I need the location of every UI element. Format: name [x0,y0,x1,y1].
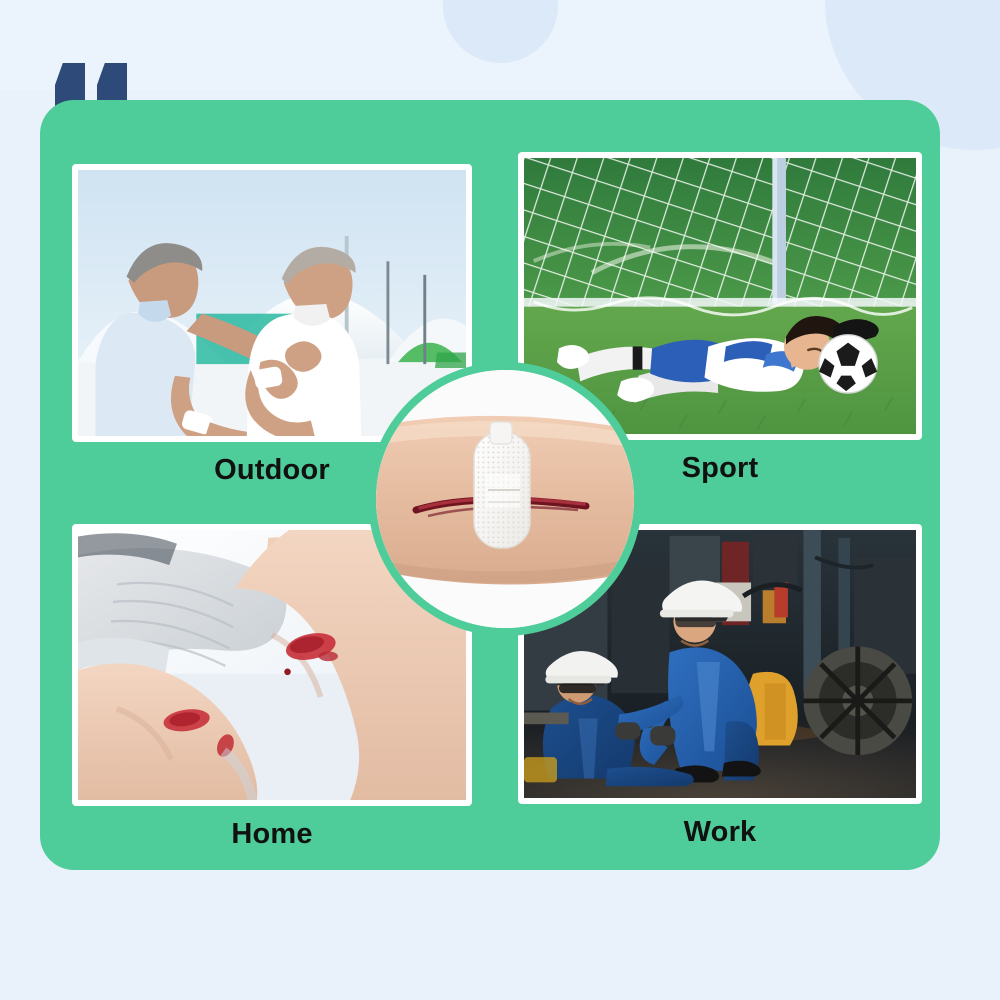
photo-center-bandaged-arm-wound [376,370,634,628]
photo-outdoor-two-men-sports-injury [78,170,466,436]
center-circle-image-clip [376,370,634,628]
poster-canvas: Outdoor [0,0,1000,1000]
caption-home: Home [72,818,472,851]
center-circle-badge [368,362,642,636]
caption-work: Work [518,816,922,849]
